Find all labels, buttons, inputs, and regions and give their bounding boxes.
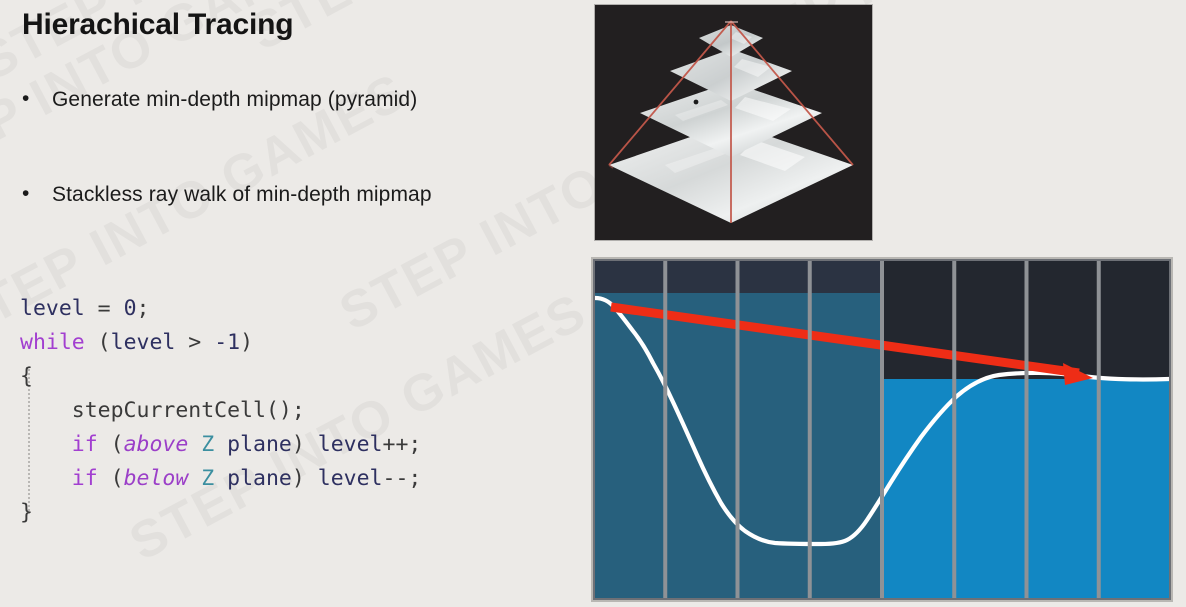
- code-token: }: [20, 500, 33, 525]
- code-token: ();: [266, 398, 305, 423]
- code-token: plane: [214, 432, 292, 457]
- code-line: {: [20, 360, 421, 394]
- bullet-dot-icon: •: [22, 183, 52, 204]
- slide-root: STEP INTO GAMES STEP INTO GAMES STEP INT…: [0, 0, 1186, 607]
- page-title: Hierachical Tracing: [22, 8, 293, 42]
- code-token: {: [20, 364, 33, 389]
- code-token: >: [175, 330, 214, 355]
- code-token: -1: [214, 330, 240, 355]
- depth-traversal-svg: [593, 259, 1171, 600]
- code-line: stepCurrentCell();: [20, 394, 421, 428]
- code-token: [188, 432, 201, 457]
- code-token: (: [98, 466, 124, 491]
- code-line: }: [20, 496, 421, 530]
- code-line: if (above Z plane) level++;: [20, 428, 421, 462]
- code-token: [188, 466, 201, 491]
- mipmap-pyramid-image: [595, 5, 872, 240]
- code-token: level: [111, 330, 176, 355]
- code-token: (: [98, 432, 124, 457]
- code-token: --;: [383, 466, 422, 491]
- code-line: level = 0;: [20, 292, 421, 326]
- code-token: level: [318, 466, 383, 491]
- code-token: ): [292, 466, 318, 491]
- code-token: =: [85, 296, 124, 321]
- code-token: if: [72, 466, 98, 491]
- code-token: (: [85, 330, 111, 355]
- bullet-item: • Stackless ray walk of min-depth mipmap: [22, 183, 432, 207]
- code-token: ): [292, 432, 318, 457]
- code-token: below: [124, 466, 189, 491]
- code-token: ++;: [383, 432, 422, 457]
- code-token: level: [20, 296, 85, 321]
- bullet-dot-icon: •: [22, 88, 52, 109]
- code-line: while (level > -1): [20, 326, 421, 360]
- bullet-item: • Generate min-depth mipmap (pyramid): [22, 88, 417, 112]
- code-token: if: [72, 432, 98, 457]
- pyramid-svg: [595, 5, 872, 240]
- bullet-label: Generate min-depth mipmap (pyramid): [52, 88, 417, 112]
- code-token: plane: [214, 466, 292, 491]
- code-block: level = 0;while (level > -1){ stepCurren…: [20, 292, 421, 530]
- code-token: [20, 432, 72, 457]
- code-token: level: [318, 432, 383, 457]
- code-token: while: [20, 330, 85, 355]
- code-token: Z: [201, 432, 214, 457]
- bullet-label: Stackless ray walk of min-depth mipmap: [52, 183, 432, 207]
- code-token: stepCurrentCell: [20, 398, 266, 423]
- code-token: ;: [137, 296, 150, 321]
- code-token: 0: [124, 296, 137, 321]
- code-token: [20, 466, 72, 491]
- code-line: if (below Z plane) level--;: [20, 462, 421, 496]
- code-token: ): [240, 330, 253, 355]
- min-depth-mipmap-traversal-image: [593, 259, 1171, 600]
- code-token: above: [124, 432, 189, 457]
- code-token: Z: [201, 466, 214, 491]
